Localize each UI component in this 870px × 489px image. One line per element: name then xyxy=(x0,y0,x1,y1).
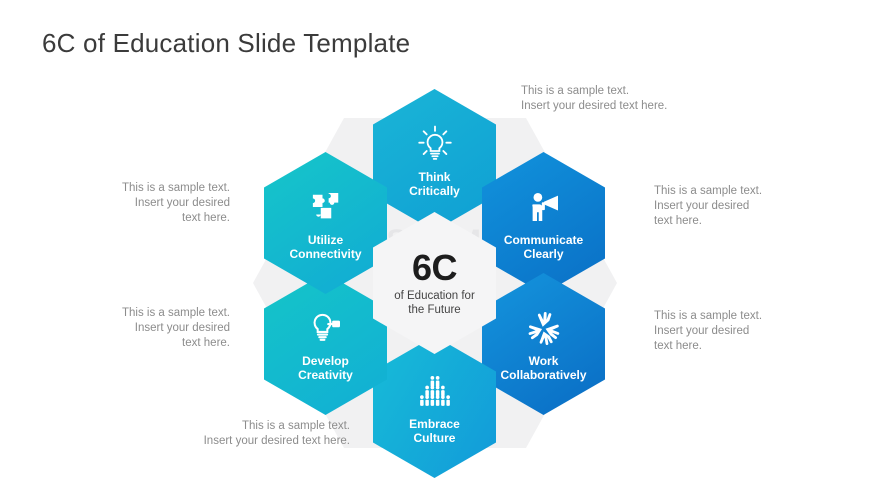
hexagon-label: Utilize Connectivity xyxy=(283,233,367,261)
center-subtitle: of Education for the Future xyxy=(394,289,475,317)
note-top-right[interactable]: This is a sample text. Insert your desir… xyxy=(521,84,731,114)
hexagon-label: Embrace Culture xyxy=(403,417,466,445)
note-left-lower[interactable]: This is a sample text. Insert your desir… xyxy=(95,306,230,351)
hexagon-diagram: SlideModel Think Critical xyxy=(0,0,870,489)
hexagon-label: Develop Creativity xyxy=(292,354,359,382)
note-bottom-left[interactable]: This is a sample text. Insert your desir… xyxy=(160,419,350,449)
note-right-lower[interactable]: This is a sample text. Insert your desir… xyxy=(654,309,804,354)
note-right-upper[interactable]: This is a sample text. Insert your desir… xyxy=(654,184,804,229)
center-headline: 6C xyxy=(412,250,457,286)
joined-hands-icon xyxy=(522,306,566,350)
people-pyramid-icon xyxy=(413,369,457,413)
hexagon-label: Think Critically xyxy=(403,170,466,198)
puzzle-pieces-icon xyxy=(304,185,348,229)
lightbulb-plug-icon xyxy=(304,306,348,350)
hexagon-label: Communicate Clearly xyxy=(498,233,589,261)
megaphone-person-icon xyxy=(522,185,566,229)
slide-canvas: 6C of Education Slide Template SlideMode… xyxy=(0,0,870,489)
lightbulb-icon xyxy=(413,122,457,166)
hexagon-label: Work Collaboratively xyxy=(494,354,592,382)
note-left-upper[interactable]: This is a sample text. Insert your desir… xyxy=(95,181,230,226)
